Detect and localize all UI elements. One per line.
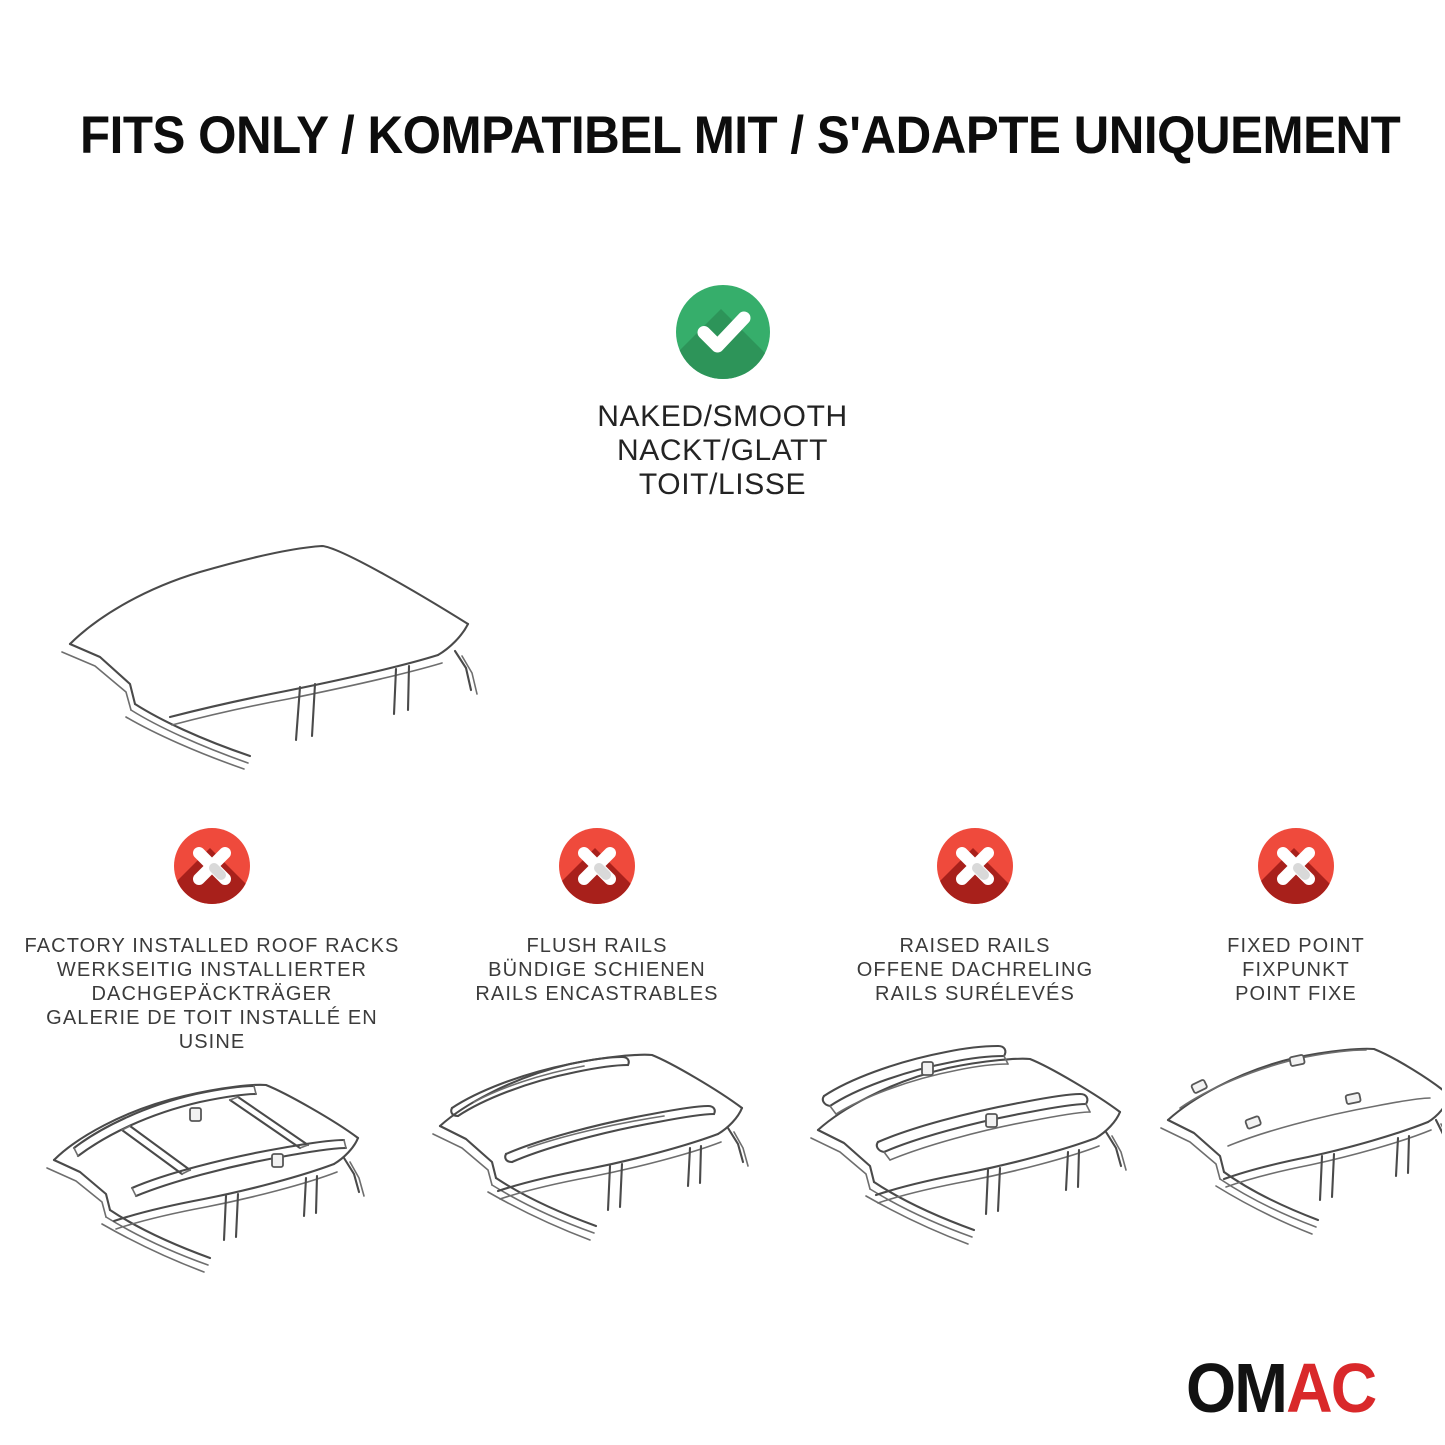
page-title: FITS ONLY / KOMPATIBEL MIT / S'ADAPTE UN…: [80, 106, 1289, 166]
label-line-1: FACTORY INSTALLED ROOF RACKS: [14, 934, 410, 958]
compatible-label-line-2: NACKT/GLATT: [0, 434, 1445, 468]
label-line-4: GALERIE DE TOIT INSTALLÉ EN USINE: [14, 1006, 410, 1054]
omac-logo: OMAC: [1186, 1352, 1422, 1424]
check-circle-icon: [676, 285, 770, 379]
label-line-2: WERKSEITIG INSTALLIERTER: [14, 958, 410, 982]
compatible-roof-type-section: NAKED/SMOOTH NACKT/GLATT TOIT/LISSE: [0, 285, 1445, 774]
label-line-1: RAISED RAILS: [790, 934, 1160, 958]
label-line-1: FIXED POINT: [1150, 934, 1442, 958]
car-roof-flush-rails-illustration: [412, 1044, 782, 1259]
car-roof-raised-rails-illustration: [790, 1044, 1160, 1259]
label-line-1: FLUSH RAILS: [412, 934, 782, 958]
cross-circle-icon: [1258, 828, 1334, 904]
compatible-label-block: NAKED/SMOOTH NACKT/GLATT TOIT/LISSE: [0, 400, 1445, 502]
label-line-3: RAILS SURÉLEVÉS: [790, 982, 1160, 1006]
incompatible-item-factory-racks: FACTORY INSTALLED ROOF RACKS WERKSEITIG …: [14, 828, 410, 1283]
label-line-2: BÜNDIGE SCHIENEN: [412, 958, 782, 982]
incompatible-item-flush-rails: FLUSH RAILS BÜNDIGE SCHIENEN RAILS ENCAS…: [412, 828, 782, 1259]
incompatible-label-block: FLUSH RAILS BÜNDIGE SCHIENEN RAILS ENCAS…: [412, 934, 782, 1006]
cross-mark-glyph: [937, 828, 1013, 904]
cross-mark-glyph: [559, 828, 635, 904]
logo-text-red: AC: [1286, 1349, 1375, 1427]
compatible-label-line-3: TOIT/LISSE: [0, 468, 1445, 502]
incompatible-label-block: FACTORY INSTALLED ROOF RACKS WERKSEITIG …: [14, 934, 410, 1054]
compatible-label-line-1: NAKED/SMOOTH: [0, 400, 1445, 434]
label-line-2: OFFENE DACHRELING: [790, 958, 1160, 982]
label-line-3: POINT FIXE: [1150, 982, 1442, 1006]
cross-circle-icon: [937, 828, 1013, 904]
car-roof-factory-racks-illustration: [14, 1068, 410, 1283]
check-mark-glyph: [676, 285, 770, 379]
car-roof-naked-smooth-illustration: [0, 524, 1445, 774]
incompatible-label-block: RAISED RAILS OFFENE DACHRELING RAILS SUR…: [790, 934, 1160, 1006]
incompatible-item-fixed-point: FIXED POINT FIXPUNKT POINT FIXE: [1150, 828, 1442, 1259]
label-line-3: RAILS ENCASTRABLES: [412, 982, 782, 1006]
incompatible-label-block: FIXED POINT FIXPUNKT POINT FIXE: [1150, 934, 1442, 1006]
label-line-3: DACHGEPÄCKTRÄGER: [14, 982, 410, 1006]
label-line-2: FIXPUNKT: [1150, 958, 1442, 982]
incompatible-roof-types-row: FACTORY INSTALLED ROOF RACKS WERKSEITIG …: [0, 828, 1445, 1248]
logo-text-dark: OM: [1186, 1349, 1286, 1427]
car-roof-fixed-point-illustration: [1150, 1044, 1442, 1259]
cross-circle-icon: [559, 828, 635, 904]
cross-circle-icon: [174, 828, 250, 904]
cross-mark-glyph: [174, 828, 250, 904]
incompatible-item-raised-rails: RAISED RAILS OFFENE DACHRELING RAILS SUR…: [790, 828, 1160, 1259]
cross-mark-glyph: [1258, 828, 1334, 904]
